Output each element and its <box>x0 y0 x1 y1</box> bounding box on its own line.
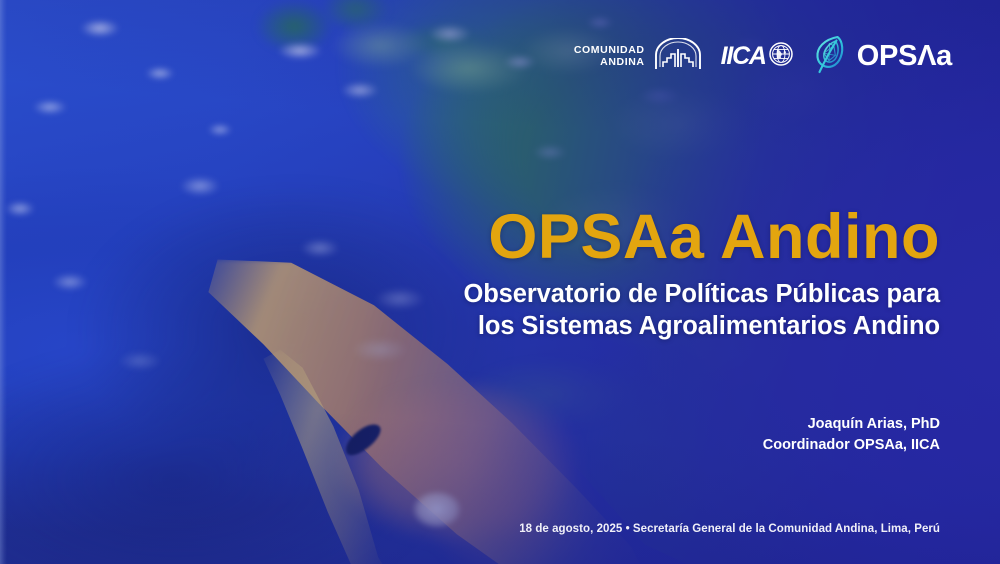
comunidad-andina-line2: ANDINA <box>600 57 644 68</box>
footer-event-info: 18 de agosto, 2025 • Secretaría General … <box>519 523 940 535</box>
subtitle: Observatorio de Políticas Públicas para … <box>300 278 940 342</box>
presentation-title-slide: COMUNIDAD ANDINA IICA <box>0 0 1000 564</box>
logo-comunidad-andina: COMUNIDAD ANDINA <box>574 38 702 75</box>
slide-content: COMUNIDAD ANDINA IICA <box>0 0 1000 564</box>
page-title: OPSAa Andino <box>300 206 940 269</box>
comunidad-andina-line1: COMUNIDAD <box>574 45 645 56</box>
stepped-arch-icon <box>654 38 702 75</box>
globe-icon <box>769 42 793 71</box>
opsaa-wordmark: OPSΛa <box>857 42 952 71</box>
logo-bar: COMUNIDAD ANDINA IICA <box>574 33 952 80</box>
subtitle-line-2: los Sistemas Agroalimentarios Andino <box>478 312 940 340</box>
logo-opsaa: OPSΛa <box>812 33 952 80</box>
author-block: Joaquín Arias, PhD Coordinador OPSAa, II… <box>763 414 940 457</box>
title-block: OPSAa Andino Observatorio de Políticas P… <box>300 206 940 342</box>
comunidad-andina-wordmark: COMUNIDAD ANDINA <box>574 45 645 68</box>
leaf-icon <box>812 33 848 80</box>
author-role: Coordinador OPSAa, IICA <box>763 435 940 456</box>
author-name: Joaquín Arias, PhD <box>763 414 940 435</box>
iica-wordmark: IICA <box>721 44 766 69</box>
logo-iica: IICA <box>721 42 793 71</box>
subtitle-line-1: Observatorio de Políticas Públicas para <box>463 280 940 308</box>
